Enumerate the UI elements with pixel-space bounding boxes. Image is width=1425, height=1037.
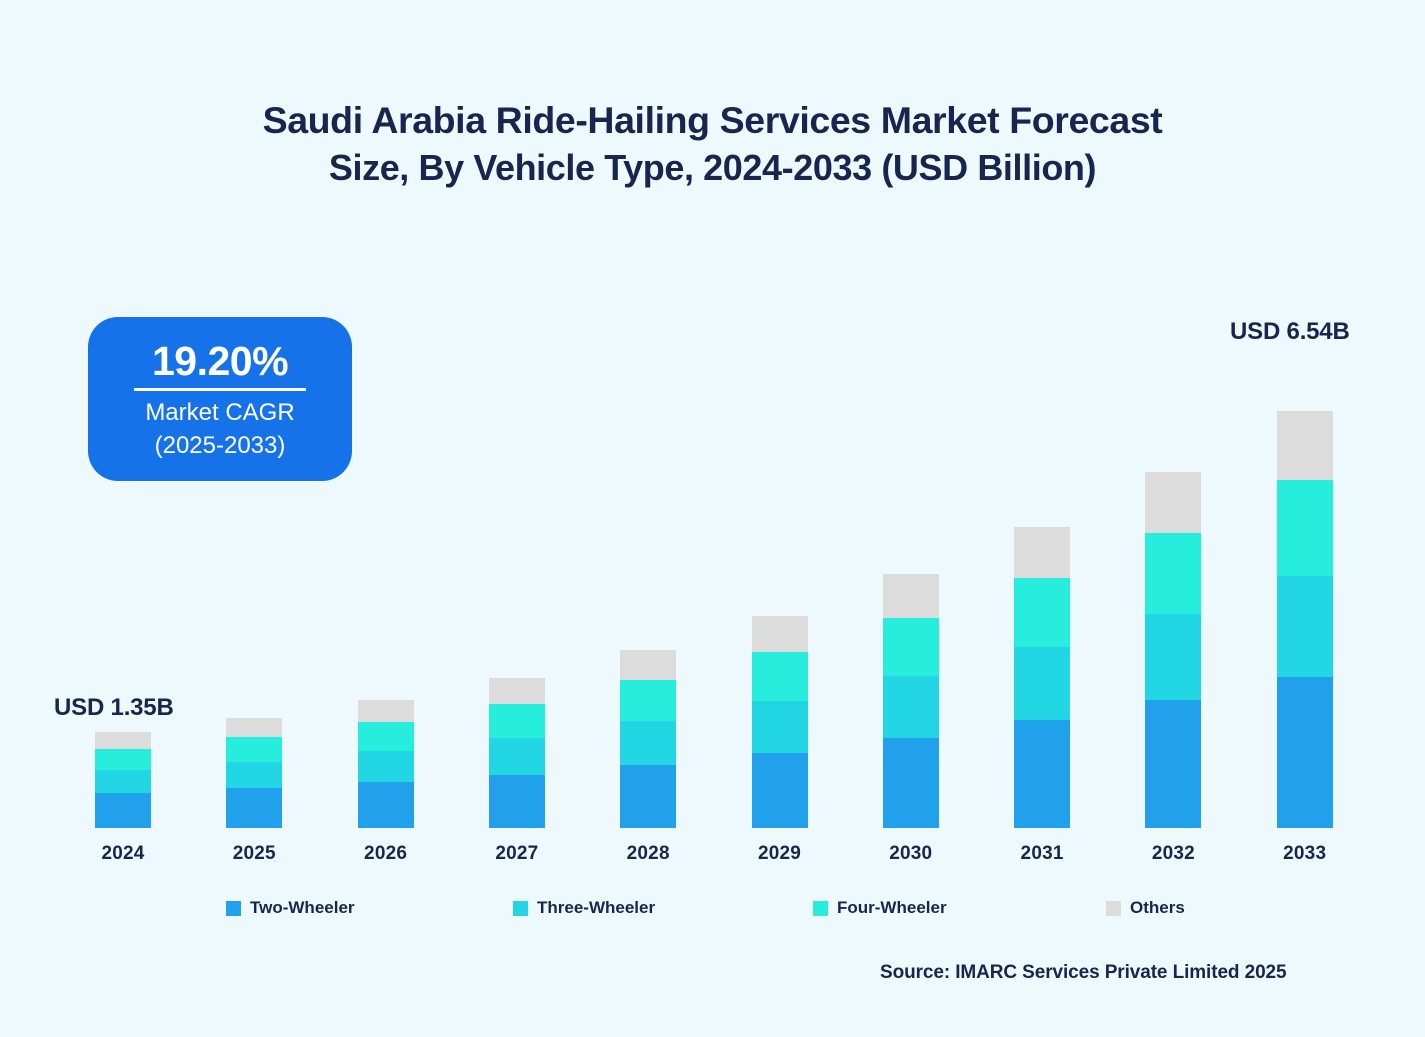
cagr-period: (2025-2033): [155, 430, 286, 462]
bar-segment-four-wheeler: [489, 704, 545, 739]
bar-segment-three-wheeler: [883, 676, 939, 738]
bar-segment-two-wheeler: [358, 782, 414, 828]
bar-segment-three-wheeler: [489, 738, 545, 775]
legend-item-others[interactable]: Others: [1106, 898, 1185, 918]
x-axis-label-2028: 2028: [588, 843, 708, 865]
bar-2024[interactable]: [95, 732, 151, 828]
cagr-caption: Market CAGR: [145, 397, 294, 429]
x-axis-label-2031: 2031: [982, 843, 1102, 865]
title-line-1: Saudi Arabia Ride-Hailing Services Marke…: [0, 96, 1425, 145]
bar-segment-two-wheeler: [1014, 720, 1070, 828]
x-axis-label-2033: 2033: [1245, 843, 1365, 865]
bar-segment-two-wheeler: [752, 753, 808, 828]
bar-segment-three-wheeler: [1277, 576, 1333, 678]
legend-item-three-wheeler[interactable]: Three-Wheeler: [513, 898, 655, 918]
bar-segment-four-wheeler: [1277, 480, 1333, 575]
x-axis-label-2025: 2025: [194, 843, 314, 865]
bar-2031[interactable]: [1014, 527, 1070, 828]
bar-segment-others: [226, 718, 282, 737]
first-value-label: USD 1.35B: [54, 694, 174, 722]
legend-label: Three-Wheeler: [537, 898, 655, 918]
bar-segment-three-wheeler: [620, 721, 676, 765]
bar-2028[interactable]: [620, 650, 676, 828]
legend-swatch-icon: [1106, 901, 1121, 916]
legend-label: Two-Wheeler: [250, 898, 355, 918]
bar-2032[interactable]: [1145, 472, 1201, 828]
bar-segment-two-wheeler: [620, 765, 676, 828]
title-line-2: Size, By Vehicle Type, 2024-2033 (USD Bi…: [0, 145, 1425, 192]
x-axis-label-2026: 2026: [326, 843, 446, 865]
bar-2026[interactable]: [358, 700, 414, 828]
bar-segment-four-wheeler: [620, 680, 676, 721]
bar-segment-three-wheeler: [358, 751, 414, 782]
bar-segment-four-wheeler: [358, 722, 414, 751]
bar-2027[interactable]: [489, 678, 545, 828]
cagr-badge: 19.20% Market CAGR (2025-2033): [88, 317, 352, 481]
bar-segment-two-wheeler: [1277, 677, 1333, 828]
bar-segment-others: [95, 732, 151, 749]
bar-segment-three-wheeler: [1014, 647, 1070, 720]
legend-item-two-wheeler[interactable]: Two-Wheeler: [226, 898, 355, 918]
legend-swatch-icon: [226, 901, 241, 916]
chart-legend: Two-WheelerThree-WheelerFour-WheelerOthe…: [0, 898, 1425, 924]
bar-2030[interactable]: [883, 574, 939, 828]
infographic-canvas: Saudi Arabia Ride-Hailing Services Marke…: [0, 0, 1425, 1037]
source-note: Source: IMARC Services Private Limited 2…: [880, 962, 1286, 984]
legend-label: Four-Wheeler: [837, 898, 947, 918]
bar-segment-two-wheeler: [95, 793, 151, 828]
x-axis-label-2027: 2027: [457, 843, 577, 865]
bar-segment-others: [358, 700, 414, 722]
bar-segment-others: [883, 574, 939, 617]
bar-segment-three-wheeler: [95, 770, 151, 793]
bar-segment-four-wheeler: [752, 652, 808, 701]
legend-label: Others: [1130, 898, 1185, 918]
bar-segment-four-wheeler: [226, 737, 282, 762]
page-title: Saudi Arabia Ride-Hailing Services Marke…: [0, 96, 1425, 192]
bar-2025[interactable]: [226, 718, 282, 828]
bar-segment-others: [1277, 411, 1333, 481]
x-axis-label-2024: 2024: [63, 843, 183, 865]
bar-segment-two-wheeler: [489, 775, 545, 828]
bar-segment-four-wheeler: [883, 618, 939, 676]
bar-segment-four-wheeler: [1014, 578, 1070, 647]
last-value-label: USD 6.54B: [1230, 318, 1350, 346]
x-axis-label-2032: 2032: [1113, 843, 1233, 865]
bar-segment-two-wheeler: [226, 788, 282, 828]
legend-item-four-wheeler[interactable]: Four-Wheeler: [813, 898, 947, 918]
bar-segment-three-wheeler: [1145, 614, 1201, 700]
x-axis-label-2030: 2030: [851, 843, 971, 865]
cagr-percent: 19.20%: [134, 340, 306, 391]
bar-segment-two-wheeler: [1145, 700, 1201, 828]
bar-segment-four-wheeler: [1145, 533, 1201, 614]
bar-segment-others: [620, 650, 676, 681]
bar-segment-others: [1145, 472, 1201, 532]
x-axis-label-2029: 2029: [720, 843, 840, 865]
bar-segment-two-wheeler: [883, 738, 939, 828]
bar-2029[interactable]: [752, 616, 808, 828]
bar-segment-others: [489, 678, 545, 704]
bar-segment-others: [752, 616, 808, 652]
bar-segment-others: [1014, 527, 1070, 578]
bar-segment-four-wheeler: [95, 749, 151, 770]
bar-2033[interactable]: [1277, 411, 1333, 828]
bar-segment-three-wheeler: [752, 701, 808, 753]
legend-swatch-icon: [813, 901, 828, 916]
legend-swatch-icon: [513, 901, 528, 916]
bar-segment-three-wheeler: [226, 762, 282, 788]
